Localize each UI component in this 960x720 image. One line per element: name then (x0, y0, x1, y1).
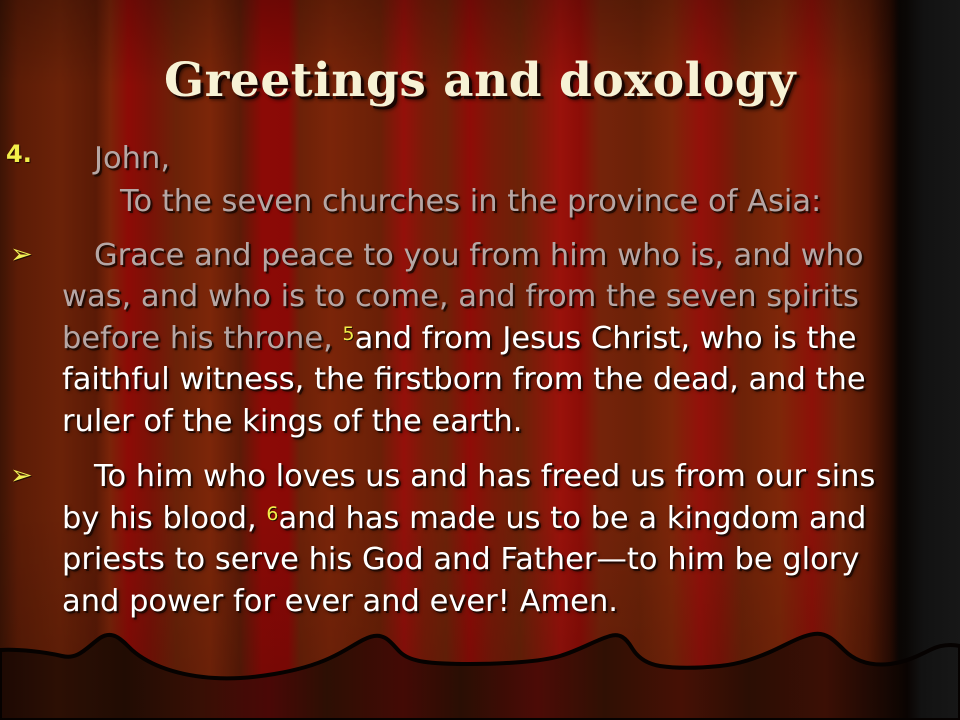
spacer (0, 223, 960, 235)
verse-number-5: 5 (343, 323, 355, 345)
text-block-john: 4. John, To the seven churches in the pr… (0, 138, 960, 223)
bullet-arrow-icon: ➢ (10, 458, 56, 493)
verse-marker-4: 4. (6, 138, 52, 171)
john-line-1: John, (62, 138, 908, 179)
spacer (0, 442, 960, 456)
john-line-2-text: To the seven churches in the province of… (120, 184, 821, 219)
page-title: Greetings and doxology (0, 56, 960, 105)
verse-number-6: 6 (266, 503, 278, 525)
text-block-tohim: ➢ To him who loves us and has freed us f… (0, 456, 960, 622)
slide-canvas: Greetings and doxology 4. John, To the s… (0, 0, 960, 720)
john-line-1-text: John, (94, 141, 170, 176)
footer-wave-decoration (0, 620, 960, 720)
slide-body: 4. John, To the seven churches in the pr… (0, 138, 960, 622)
john-line-2: To the seven churches in the province of… (62, 181, 908, 222)
bullet-arrow-icon: ➢ (10, 237, 56, 272)
text-block-grace: ➢ Grace and peace to you from him who is… (0, 235, 960, 442)
